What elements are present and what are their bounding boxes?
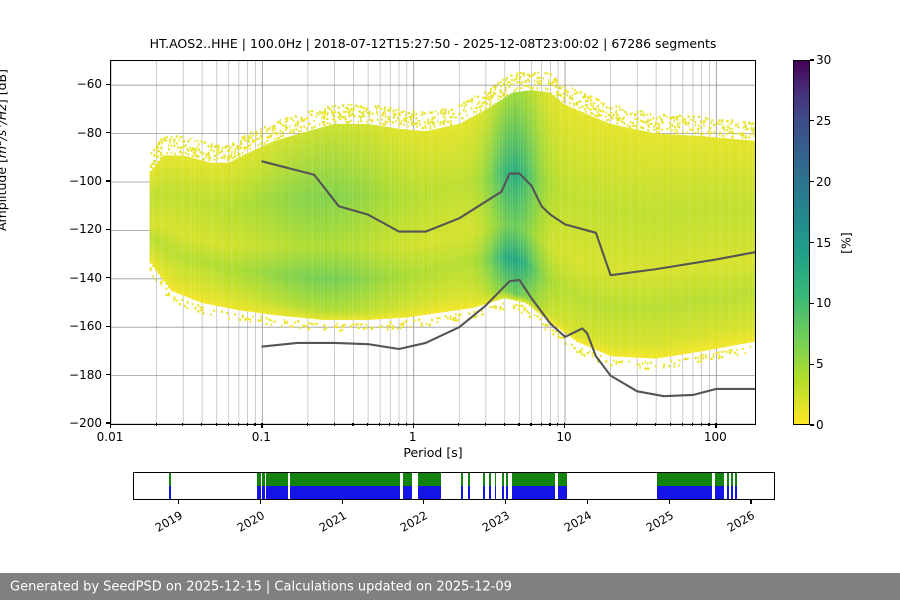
y-tick-label: −180 bbox=[42, 368, 102, 382]
y-tick-mark bbox=[106, 180, 110, 181]
page-title: HT.AOS2..HHE | 100.0Hz | 2018-07-12T15:2… bbox=[110, 36, 756, 51]
timeline-segment bbox=[290, 473, 400, 499]
x-tick-mark bbox=[564, 423, 565, 428]
timeline-tick-mark bbox=[260, 500, 261, 504]
colorbar bbox=[793, 60, 810, 425]
y-tick-mark bbox=[106, 84, 110, 85]
x-tick-mark bbox=[201, 423, 202, 426]
timeline-segment bbox=[502, 473, 504, 499]
timeline-tick-mark bbox=[587, 500, 588, 504]
y-tick-label: −140 bbox=[42, 271, 102, 285]
timeline-segment bbox=[735, 473, 737, 499]
timeline-tick-mark bbox=[178, 500, 179, 504]
x-tick-mark bbox=[367, 423, 368, 426]
timeline-tick-mark bbox=[423, 500, 424, 504]
y-axis-label: Amplitude [m2/s4/Hz] [dB] bbox=[0, 50, 9, 250]
data-availability-timeline[interactable] bbox=[133, 472, 775, 500]
x-tick-mark bbox=[549, 423, 550, 426]
timeline-year-label: 2024 bbox=[557, 508, 593, 537]
colorbar-tick-label: 10 bbox=[816, 296, 831, 310]
x-tick-mark bbox=[216, 423, 217, 426]
y-tick-mark bbox=[106, 374, 110, 375]
x-tick-mark bbox=[692, 423, 693, 426]
timeline-segment bbox=[506, 473, 508, 499]
x-tick-mark bbox=[261, 423, 262, 428]
y-tick-mark bbox=[106, 277, 110, 278]
x-tick-mark bbox=[715, 423, 716, 428]
x-tick-mark bbox=[307, 423, 308, 426]
y-tick-label: −60 bbox=[42, 77, 102, 91]
timeline-year-label: 2025 bbox=[639, 508, 675, 537]
timeline-segment bbox=[715, 473, 723, 499]
x-tick-label: 1 bbox=[409, 430, 417, 444]
timeline-segment bbox=[262, 473, 264, 499]
x-tick-mark bbox=[247, 423, 248, 426]
x-tick-mark bbox=[458, 423, 459, 426]
x-tick-mark bbox=[398, 423, 399, 426]
x-tick-mark bbox=[557, 423, 558, 426]
y-tick-label: −80 bbox=[42, 126, 102, 140]
x-tick-mark bbox=[352, 423, 353, 426]
colorbar-tick-label: 20 bbox=[816, 175, 831, 189]
y-tick-mark bbox=[106, 326, 110, 327]
x-tick-mark bbox=[254, 423, 255, 426]
x-tick-mark bbox=[389, 423, 390, 426]
timeline-year-label: 2020 bbox=[230, 508, 266, 537]
timeline-segment bbox=[731, 473, 733, 499]
colorbar-label: [%] bbox=[839, 232, 854, 254]
y-tick-label: −120 bbox=[42, 222, 102, 236]
y-tick-mark bbox=[106, 229, 110, 230]
x-axis-label: Period [s] bbox=[110, 445, 756, 460]
timeline-year-label: 2021 bbox=[312, 508, 348, 537]
x-tick-mark bbox=[228, 423, 229, 426]
footer-text: Generated by SeedPSD on 2025-12-15 | Cal… bbox=[10, 579, 512, 594]
timeline-year-label: 2022 bbox=[394, 508, 430, 537]
y-tick-label: −100 bbox=[42, 174, 102, 188]
psd-plot-area[interactable] bbox=[110, 60, 756, 425]
timeline-segment bbox=[512, 473, 555, 499]
timeline-segment bbox=[461, 473, 463, 499]
footer-bar: Generated by SeedPSD on 2025-12-15 | Cal… bbox=[0, 573, 900, 600]
x-tick-mark bbox=[182, 423, 183, 426]
x-tick-mark bbox=[670, 423, 671, 426]
x-tick-mark bbox=[708, 423, 709, 426]
x-tick-mark bbox=[238, 423, 239, 426]
timeline-segment bbox=[169, 473, 171, 499]
x-tick-label: 100 bbox=[704, 430, 727, 444]
y-tick-label: −200 bbox=[42, 416, 102, 430]
timeline-segment bbox=[558, 473, 567, 499]
timeline-segment bbox=[403, 473, 412, 499]
timeline-year-label: 2026 bbox=[721, 508, 757, 537]
x-tick-mark bbox=[334, 423, 335, 426]
x-tick-mark bbox=[530, 423, 531, 426]
y-tick-label: −160 bbox=[42, 319, 102, 333]
timeline-tick-mark bbox=[342, 500, 343, 504]
colorbar-tick-label: 0 bbox=[816, 418, 824, 432]
timeline-segment bbox=[489, 473, 491, 499]
timeline-year-label: 2023 bbox=[476, 508, 512, 537]
x-tick-mark bbox=[379, 423, 380, 426]
colorbar-tick-mark bbox=[810, 181, 814, 182]
timeline-segment bbox=[483, 473, 485, 499]
timeline-segment bbox=[418, 473, 441, 499]
colorbar-tick-mark bbox=[810, 424, 814, 425]
colorbar-tick-mark bbox=[810, 59, 814, 60]
x-tick-mark bbox=[518, 423, 519, 426]
x-tick-mark bbox=[413, 423, 414, 428]
x-tick-mark bbox=[541, 423, 542, 426]
timeline-tick-mark bbox=[669, 500, 670, 504]
x-tick-mark bbox=[655, 423, 656, 426]
x-tick-mark bbox=[406, 423, 407, 426]
x-tick-label: 0.01 bbox=[97, 430, 124, 444]
x-tick-mark bbox=[485, 423, 486, 426]
timeline-segment bbox=[495, 473, 497, 499]
colorbar-tick-mark bbox=[810, 303, 814, 304]
colorbar-tick-label: 30 bbox=[816, 53, 831, 67]
y-tick-mark bbox=[106, 132, 110, 133]
x-tick-mark bbox=[110, 423, 111, 428]
timeline-segment bbox=[468, 473, 470, 499]
timeline-segment bbox=[266, 473, 287, 499]
timeline-tick-mark bbox=[505, 500, 506, 504]
x-tick-label: 0.1 bbox=[252, 430, 271, 444]
colorbar-tick-label: 5 bbox=[816, 357, 824, 371]
psd-figure: HT.AOS2..HHE | 100.0Hz | 2018-07-12T15:2… bbox=[0, 0, 900, 600]
x-tick-mark bbox=[636, 423, 637, 426]
colorbar-tick-mark bbox=[810, 364, 814, 365]
colorbar-tick-mark bbox=[810, 120, 814, 121]
x-tick-mark bbox=[682, 423, 683, 426]
x-tick-mark bbox=[504, 423, 505, 426]
timeline-year-label: 2019 bbox=[149, 508, 185, 537]
colorbar-tick-label: 25 bbox=[816, 114, 831, 128]
x-tick-mark bbox=[610, 423, 611, 426]
timeline-segment bbox=[727, 473, 729, 499]
colorbar-tick-label: 15 bbox=[816, 236, 831, 250]
x-tick-label: 10 bbox=[556, 430, 571, 444]
timeline-segment bbox=[657, 473, 712, 499]
x-tick-mark bbox=[701, 423, 702, 426]
psd-heatmap bbox=[111, 61, 755, 424]
x-tick-mark bbox=[156, 423, 157, 426]
colorbar-tick-mark bbox=[810, 242, 814, 243]
timeline-segment bbox=[257, 473, 261, 499]
timeline-tick-mark bbox=[750, 500, 751, 504]
